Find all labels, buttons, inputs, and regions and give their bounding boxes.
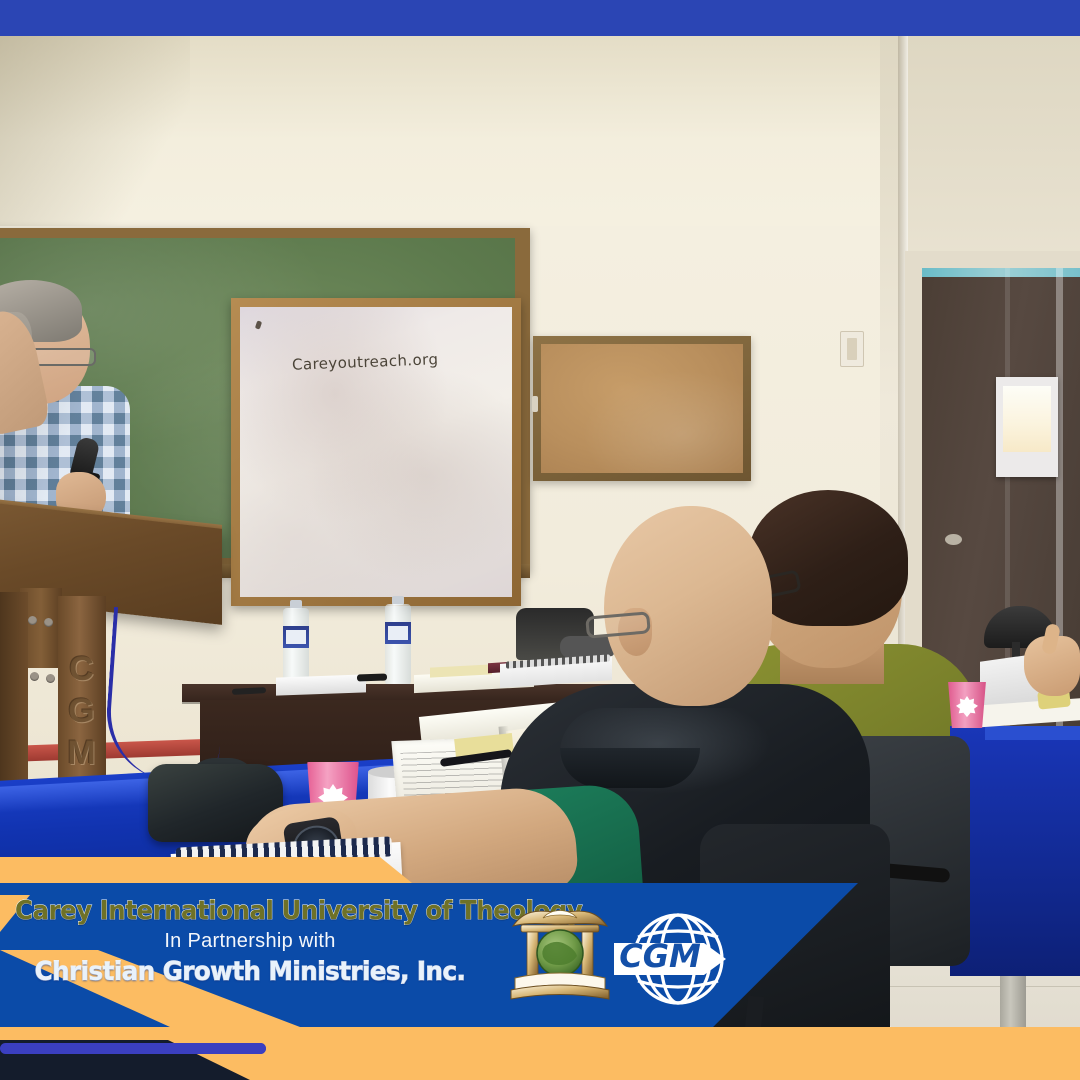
lectern-bolt	[30, 672, 39, 681]
banner-title-line1: Carey International University of Theolo…	[15, 895, 485, 927]
floor-tile-line	[860, 986, 1080, 987]
screenshot-canvas: Careyoutreach.org	[0, 0, 1080, 1080]
whiteboard-frame: Careyoutreach.org	[231, 298, 521, 606]
desk-marker	[357, 673, 387, 681]
ciut-crest-logo	[505, 898, 615, 1008]
lectern-letter: C	[58, 648, 106, 690]
banner-text-block: Carey International University of Theolo…	[0, 895, 500, 989]
flower-logo-icon	[956, 696, 978, 718]
light-switch	[840, 331, 864, 367]
banner-title-line2: In Partnership with	[0, 927, 500, 955]
whiteboard-handwriting: Careyoutreach.org	[292, 350, 439, 374]
desk-book	[276, 674, 366, 695]
door-knob-icon	[945, 534, 962, 545]
lectern-bolt	[28, 616, 37, 625]
bulletin-clip	[532, 396, 538, 412]
tack-icon	[255, 320, 262, 329]
lectern-bolt	[44, 618, 53, 627]
lectern-bolt	[46, 674, 55, 683]
attendee2-hair	[748, 490, 908, 626]
crest-book-base	[511, 985, 609, 999]
bottle-body	[385, 604, 411, 686]
door-notice-paper	[996, 377, 1058, 477]
lectern-letter: G	[58, 690, 106, 732]
attendee1-head	[604, 506, 772, 706]
cork-bulletin-board	[533, 336, 751, 481]
banner-title-line3: Christian Growth Ministries, Inc.	[15, 955, 485, 989]
whiteboard-sheet: Careyoutreach.org	[240, 307, 512, 597]
lectern-cgm-carving: CGM	[58, 648, 106, 774]
lectern-letter: M	[58, 732, 106, 774]
bottle-label	[283, 626, 309, 648]
bottle-label	[385, 622, 411, 644]
right-table-edge	[985, 726, 1080, 740]
pink-paper-cup-right	[946, 682, 988, 728]
cgm-globe-logo: CGM	[600, 905, 740, 1013]
cork-surface	[541, 344, 743, 473]
cgm-wordmark: CGM	[619, 937, 701, 975]
top-blue-bar	[0, 0, 1080, 36]
speaker-eyeglasses	[30, 348, 96, 366]
attendee1-collar	[560, 748, 700, 788]
